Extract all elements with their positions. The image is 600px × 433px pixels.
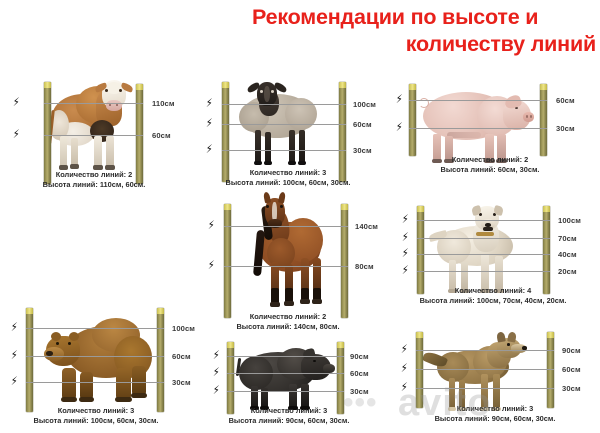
panel-caption: Количество линий: 2 Высота линий: 110см,… bbox=[0, 170, 188, 189]
fence-wire bbox=[416, 369, 554, 370]
height-label: 30см bbox=[353, 146, 372, 155]
post-cap-icon bbox=[44, 82, 51, 88]
fence-post-right bbox=[547, 332, 554, 408]
caption-line-heights: Высота линий: 140см, 80см. bbox=[195, 322, 381, 332]
electric-bolt-icon: ⚡ bbox=[402, 264, 409, 276]
fence-wire bbox=[227, 391, 344, 392]
electric-bolt-icon: ⚡ bbox=[401, 362, 408, 374]
panel-bear: ⚡ ⚡ ⚡ 100см 60см 30см Количество линий: … bbox=[0, 296, 195, 433]
post-cap-icon bbox=[547, 332, 554, 338]
fence-post-right bbox=[540, 84, 547, 156]
fence-post-right bbox=[337, 342, 344, 414]
caption-line-heights: Высота линий: 100см, 70см, 40см, 20см. bbox=[395, 296, 591, 306]
electric-bolt-icon: ⚡ bbox=[13, 96, 20, 108]
fence-wire bbox=[222, 150, 346, 151]
post-cap-icon bbox=[409, 84, 416, 90]
fence-post-left bbox=[416, 332, 423, 408]
fence-post-right bbox=[157, 308, 164, 412]
panel-caption: Количество линий: 3 Высота линий: 100см,… bbox=[195, 168, 381, 187]
electric-bolt-icon: ⚡ bbox=[206, 117, 213, 129]
height-label: 70см bbox=[558, 234, 577, 243]
post-cap-icon bbox=[416, 332, 423, 338]
panel-pig: ⚡ ⚡ 60см 30см Количество линий: 2 Высота… bbox=[395, 62, 600, 190]
post-cap-icon bbox=[337, 342, 344, 348]
panel-caption: Количество линий: 2 Высота линий: 140см,… bbox=[195, 312, 381, 331]
fence-post-left bbox=[222, 82, 229, 182]
height-label: 110см bbox=[152, 99, 175, 108]
panel-dog: ⚡ ⚡ ⚡ ⚡ 100см 70см 40см 20см Количество … bbox=[395, 196, 600, 320]
caption-line-count: Количество линий: 3 bbox=[395, 404, 595, 414]
fence-wire bbox=[26, 356, 164, 357]
electric-bolt-icon: ⚡ bbox=[206, 97, 213, 109]
electric-bolt-icon: ⚡ bbox=[11, 321, 18, 333]
fence-wire bbox=[26, 382, 164, 383]
panel-sheep: ⚡ ⚡ ⚡ 100см 60см 30см Количество линий: … bbox=[195, 62, 395, 194]
fence-wire bbox=[416, 388, 554, 389]
post-cap-icon bbox=[136, 84, 143, 90]
panel-boar: ⚡ ⚡ ⚡ 90см 60см 30см Количество линий: 3… bbox=[195, 336, 395, 433]
electric-bolt-icon: ⚡ bbox=[396, 121, 403, 133]
panel-caption: Количество линий: 3 Высота линий: 90см, … bbox=[195, 406, 383, 425]
height-label: 30см bbox=[172, 378, 191, 387]
height-label: 60см bbox=[350, 369, 369, 378]
height-label: 80см bbox=[355, 262, 374, 271]
height-label: 140см bbox=[355, 222, 378, 231]
fence-post-left bbox=[44, 82, 51, 184]
fence-post-right bbox=[136, 84, 143, 184]
fence-wire bbox=[417, 271, 550, 272]
panel-caption: Количество линий: 4 Высота линий: 100см,… bbox=[395, 286, 591, 305]
post-cap-icon bbox=[222, 82, 229, 88]
caption-line-count: Количество линий: 2 bbox=[395, 155, 585, 165]
panel-caption: Количество линий: 3 Высота линий: 90см, … bbox=[395, 404, 595, 423]
electric-bolt-icon: ⚡ bbox=[213, 366, 220, 378]
electric-bolt-icon: ⚡ bbox=[208, 259, 215, 271]
electric-bolt-icon: ⚡ bbox=[213, 384, 220, 396]
post-cap-icon bbox=[157, 308, 164, 314]
height-label: 100см bbox=[353, 100, 376, 109]
caption-line-count: Количество линий: 2 bbox=[0, 170, 188, 180]
fence-wire bbox=[224, 226, 348, 227]
infographic-root: Рекомендации по высоте и количеству лини… bbox=[0, 0, 600, 433]
caption-line-heights: Высота линий: 100см, 60см, 30см. bbox=[195, 178, 381, 188]
fence-wire bbox=[417, 238, 550, 239]
fence-wire bbox=[409, 100, 547, 101]
height-label: 60см bbox=[152, 131, 171, 140]
page-title-line-2: количеству линий bbox=[252, 31, 596, 58]
post-cap-icon bbox=[540, 84, 547, 90]
fence-wire bbox=[409, 128, 547, 129]
height-label: 100см bbox=[558, 216, 581, 225]
panel-caption: Количество линий: 2 Высота линий: 60см, … bbox=[395, 155, 585, 174]
panel-horse: ⚡ ⚡ 140см 80см Количество линий: 2 Высот… bbox=[195, 196, 395, 332]
post-cap-icon bbox=[227, 342, 234, 348]
fence-wire bbox=[222, 124, 346, 125]
fence-post-left bbox=[224, 204, 231, 318]
height-label: 40см bbox=[558, 250, 577, 259]
electric-bolt-icon: ⚡ bbox=[401, 343, 408, 355]
height-label: 100см bbox=[172, 324, 195, 333]
height-label: 60см bbox=[353, 120, 372, 129]
post-cap-icon bbox=[339, 82, 346, 88]
caption-line-heights: Высота линий: 60см, 30см. bbox=[395, 165, 585, 175]
fence-post-right bbox=[341, 204, 348, 318]
electric-bolt-icon: ⚡ bbox=[402, 247, 409, 259]
electric-bolt-icon: ⚡ bbox=[213, 349, 220, 361]
panel-wolf: ⚡ ⚡ ⚡ 90см 60см 30см Количество линий: 3… bbox=[395, 326, 600, 433]
page-title-line-1: Рекомендации по высоте и bbox=[252, 5, 538, 29]
fence-wire bbox=[44, 103, 143, 104]
electric-bolt-icon: ⚡ bbox=[402, 231, 409, 243]
fence-wire bbox=[222, 104, 346, 105]
fence-wire bbox=[227, 356, 344, 357]
caption-line-heights: Высота линий: 90см, 60см, 30см. bbox=[395, 414, 595, 424]
height-label: 30см bbox=[562, 384, 581, 393]
fence-wire bbox=[417, 220, 550, 221]
post-cap-icon bbox=[543, 206, 550, 212]
caption-line-count: Количество линий: 2 bbox=[195, 312, 381, 322]
fence-post-left bbox=[26, 308, 33, 412]
height-label: 30см bbox=[556, 124, 575, 133]
caption-line-count: Количество линий: 3 bbox=[0, 406, 192, 416]
fence-wire bbox=[26, 328, 164, 329]
caption-line-count: Количество линий: 3 bbox=[195, 168, 381, 178]
caption-line-count: Количество линий: 4 bbox=[395, 286, 591, 296]
height-label: 60см bbox=[172, 352, 191, 361]
fence-wire bbox=[44, 135, 143, 136]
fence-post-left bbox=[227, 342, 234, 414]
post-cap-icon bbox=[26, 308, 33, 314]
electric-bolt-icon: ⚡ bbox=[208, 219, 215, 231]
electric-bolt-icon: ⚡ bbox=[396, 93, 403, 105]
caption-line-heights: Высота линий: 110см, 60см. bbox=[0, 180, 188, 190]
panel-cow: ⚡ ⚡ 110см 60см Количество линий: 2 Высот… bbox=[0, 62, 195, 194]
height-label: 60см bbox=[562, 365, 581, 374]
post-cap-icon bbox=[224, 204, 231, 210]
electric-bolt-icon: ⚡ bbox=[401, 381, 408, 393]
fence-wire bbox=[224, 266, 348, 267]
height-label: 90см bbox=[350, 352, 369, 361]
height-label: 20см bbox=[558, 267, 577, 276]
caption-line-heights: Высота линий: 100см, 60см, 30см. bbox=[0, 416, 192, 426]
fence-wire bbox=[417, 254, 550, 255]
fence-post-left bbox=[409, 84, 416, 156]
post-cap-icon bbox=[417, 206, 424, 212]
electric-bolt-icon: ⚡ bbox=[13, 128, 20, 140]
post-cap-icon bbox=[341, 204, 348, 210]
height-label: 60см bbox=[556, 96, 575, 105]
caption-line-heights: Высота линий: 90см, 60см, 30см. bbox=[195, 416, 383, 426]
fence-wire bbox=[227, 373, 344, 374]
height-label: 90см bbox=[562, 346, 581, 355]
electric-bolt-icon: ⚡ bbox=[402, 213, 409, 225]
height-label: 30см bbox=[350, 387, 369, 396]
electric-bolt-icon: ⚡ bbox=[11, 349, 18, 361]
page-title: Рекомендации по высоте и количеству лини… bbox=[252, 4, 596, 58]
fence-wire bbox=[416, 350, 554, 351]
fence-post-right bbox=[339, 82, 346, 182]
panel-caption: Количество линий: 3 Высота линий: 100см,… bbox=[0, 406, 192, 425]
electric-bolt-icon: ⚡ bbox=[11, 375, 18, 387]
electric-bolt-icon: ⚡ bbox=[206, 143, 213, 155]
caption-line-count: Количество линий: 3 bbox=[195, 406, 383, 416]
